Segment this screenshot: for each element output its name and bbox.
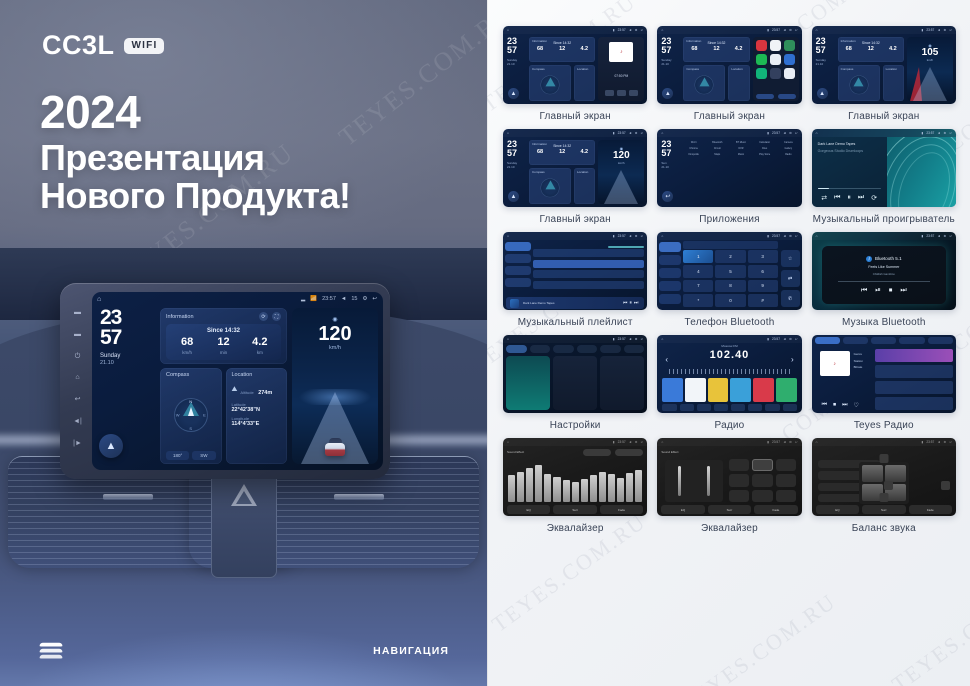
favorite-icon: ☆ [781, 250, 800, 267]
clock-hours: 23 [100, 308, 155, 328]
album-art: ♪ [609, 42, 633, 62]
gallery-item[interactable]: ⌂▮23:57◄⚙↩ Sound Effect EQSurrFade [503, 438, 647, 535]
mini-status-bar: ⌂▮23:57◄⚙↩ [503, 335, 647, 343]
mini-clock-hours: 23 [507, 140, 517, 148]
gallery-item[interactable]: ⌂▮23:57◄⚙↩ 23 57 Sunday21.10 ▲ Informati… [503, 26, 647, 123]
volume-icon: ◄ [629, 131, 632, 135]
speed-value: 105 [922, 48, 939, 58]
gallery-item[interactable]: ⌂▮23:57◄⚙↩ Настройки [503, 335, 647, 432]
back-icon: ↩ [795, 234, 798, 238]
back-icon[interactable]: ↩ [71, 394, 85, 406]
gallery-item[interactable]: ⌂▮23:57◄⚙↩ 23 57 Sunday21.10 ▲ Informati… [812, 26, 956, 123]
settings-tabs[interactable] [506, 345, 644, 353]
gear-icon: ⚙ [943, 28, 946, 32]
app-icon-youtube [756, 40, 767, 51]
play-pause-icon: ⏯ [875, 287, 881, 295]
app-item: Kinopoisk [683, 152, 704, 156]
screenshot-settings[interactable]: ⌂▮23:57◄⚙↩ [503, 335, 647, 413]
app-item: Bluetooth [707, 140, 728, 144]
playlist-tabs[interactable] [533, 241, 644, 248]
stat-value: 4.2 [242, 337, 278, 348]
tab-history [928, 337, 953, 344]
gallery-item[interactable]: ⌂▮23:57◄⚙↩ 23 57 Sunday21.10 ▲ Informati… [503, 129, 647, 226]
navigation-label: НАВИГАЦИЯ [373, 645, 449, 657]
fader-treble [707, 466, 710, 496]
volume-icon: ◄ [937, 234, 940, 238]
information-widget[interactable]: InformationSince 14:3268124.2 [529, 140, 595, 165]
tab-charts [871, 337, 896, 344]
app-icon-mail [784, 54, 795, 65]
wifi-icon: 📶 [310, 296, 317, 302]
track-artist: Childish Gambino [873, 272, 895, 276]
app-item: Gallery [778, 146, 799, 150]
app-item: Play Store [754, 152, 775, 156]
preset-label: Sound Effect [661, 450, 678, 454]
speed-widget[interactable]: ◉ 120 km/h [598, 140, 644, 204]
tab-network [600, 345, 621, 353]
app-shortcuts-widget[interactable] [753, 37, 799, 101]
wifi-icon: ▮ [922, 131, 924, 135]
volume-icon[interactable]: ◄ [341, 296, 346, 302]
location-widget[interactable]: Location [728, 65, 749, 101]
vent-slider-left [103, 494, 153, 500]
dial-pad[interactable]: 1 2 3 4 5 6 7 8 9 * 0 # [683, 250, 777, 307]
gear-icon: ⚙ [943, 131, 946, 135]
eq-band-14 [626, 473, 633, 502]
hazard-light-button[interactable] [231, 484, 257, 507]
tab-surround: Surr [553, 505, 596, 514]
preset-2 [685, 378, 706, 402]
screenshot-balance[interactable]: ⌂▮23:57◄⚙↩ EQSurrFade [812, 438, 956, 516]
gallery-item[interactable]: ♪ GenreStationBitrate ⏮⏹⏭♡ Teyes Радио [812, 335, 956, 432]
mini-clock-minutes: 57 [661, 149, 671, 157]
power-icon[interactable]: ⏻ [71, 350, 85, 362]
phone-sidebar[interactable] [659, 242, 681, 308]
playlist-items[interactable] [533, 249, 644, 296]
key-1: 1 [683, 250, 713, 263]
mini-status-bar: ⌂▮23:57◄⚙↩ [812, 438, 956, 446]
sidebar-item-search [659, 268, 681, 278]
preset-custom [776, 490, 796, 502]
mini-clock-hours: 23 [661, 140, 671, 148]
screenshot-equalizer-presets[interactable]: ⌂▮23:57◄⚙↩ Sound Effect EQSurrFade [657, 438, 801, 516]
mini-clock-text: 23:57 [618, 337, 626, 341]
panel-divider [487, 0, 488, 686]
gallery-item[interactable]: ⌂▮23:57◄⚙↩ ᛒ Bluetooth 5.1 Feels Like Su… [812, 232, 956, 329]
preset-dance [776, 474, 796, 486]
home-icon: ⌂ [661, 234, 663, 238]
location-widget[interactable]: Location [574, 65, 595, 101]
key-9: 9 [748, 280, 778, 293]
screenshot-teyes-radio[interactable]: ♪ GenreStationBitrate ⏮⏹⏭♡ [812, 335, 956, 413]
volume-down-icon[interactable]: ◄| [71, 415, 85, 427]
volume-icon: ◄ [783, 440, 786, 444]
screenshot-equalizer-bars[interactable]: ⌂▮23:57◄⚙↩ Sound Effect EQSurrFade [503, 438, 647, 516]
compass-title: Compass [166, 372, 189, 378]
home-icon: ⌂ [816, 131, 818, 135]
balance-up-button[interactable] [879, 454, 888, 463]
layers-icon [40, 642, 62, 660]
prev-icon: ⏮ [822, 402, 827, 409]
volume-icon: ◄ [783, 337, 786, 341]
caption: Эквалайзер [547, 523, 604, 535]
head-unit-screen: ⌂ ▂ 📶 23:57 ◄ 15 ⚙ ↩ 23 57 Sunday 21.10 … [92, 292, 383, 470]
equalizer-tabs[interactable]: EQSurrFade [661, 505, 797, 514]
screenshot-body: ♪ GenreStationBitrate ⏮⏹⏭♡ [812, 335, 956, 413]
gear-icon: ⚙ [789, 337, 792, 341]
key-0: 0 [715, 294, 745, 307]
balance-tabs[interactable]: EQSurrFade [816, 505, 952, 514]
mini-clock-text: 23:57 [618, 28, 626, 32]
home-icon: ⌂ [507, 234, 509, 238]
fader-group[interactable] [665, 460, 723, 502]
screenshot-music-player[interactable]: ⌂▮23:57◄⚙↩ Dark Lane Demo Tapes Gorgeous… [812, 129, 956, 207]
screenshot-bt-phone[interactable]: ⌂▮23:57◄⚙↩ 1 2 3 4 5 6 7 8 9 * [657, 232, 801, 310]
wifi-icon: ▮ [922, 28, 924, 32]
next-icon: ⏭ [858, 194, 864, 202]
title-line-1: Презентация [40, 139, 351, 177]
pause-icon: ⏸ [847, 194, 851, 202]
screenshot-body: ᛒ Bluetooth 5.1 Feels Like Summer Childi… [812, 240, 956, 310]
volume-icon: ◄ [937, 28, 940, 32]
location-title: Location [232, 372, 253, 378]
home-icon: ⌂ [661, 131, 663, 135]
trip-stats: 68 km/h 12 min 4.2 km [169, 337, 278, 355]
balance-right-button[interactable] [941, 481, 950, 490]
compass-widget[interactable]: Compass [529, 168, 571, 204]
number-display [683, 241, 777, 249]
tab-system [577, 345, 598, 353]
home-icon: ⌂ [507, 337, 509, 341]
settings-tiles[interactable] [506, 356, 644, 410]
tool-list [697, 404, 711, 411]
compass-widget[interactable]: Compass [838, 65, 880, 101]
progress-bar[interactable] [818, 188, 881, 190]
tab-about [624, 345, 645, 353]
station-presets[interactable] [662, 378, 796, 402]
title-line-2: Нового Продукта! [40, 177, 351, 215]
sidebar-item-history [659, 281, 681, 291]
home-icon[interactable]: ⌂ [97, 296, 101, 303]
location-header: Location [232, 372, 282, 378]
list-item [533, 249, 644, 257]
radio-toolbar[interactable] [662, 404, 796, 411]
gallery-item[interactable]: ⌂▮23:57◄⚙↩ 23 57 Sunday21.10 ▲ Informati… [657, 26, 801, 123]
mute-icon[interactable]: ▬ [71, 307, 85, 319]
screenshot-body: Dark Lane Demo Tapes ⏮⏸⏭ [503, 240, 647, 310]
expand-icon[interactable]: ⛶ [272, 312, 281, 321]
mini-clock-text: 23:57 [618, 440, 626, 444]
speed-widget[interactable]: ◉ 105 km/h [907, 37, 953, 101]
screenshot-playlist[interactable]: ⌂▮23:57◄⚙↩ Dark Lane Demo Tapes ⏮⏸⏭ [503, 232, 647, 310]
mini-clock-text: 23:57 [772, 337, 780, 341]
speed-value: 120 [613, 151, 630, 161]
volume-up-icon[interactable]: |► [71, 437, 85, 449]
hero-footer: НАВИГАЦИЯ [0, 642, 487, 660]
location-widget[interactable]: Location [574, 168, 595, 204]
information-body: Since 14:32 68 km/h 12 min [166, 324, 281, 360]
mini-date: Sunday21.10 [816, 58, 826, 66]
screenshot-body: 1 2 3 4 5 6 7 8 9 * 0 # ☆⇄✆ [657, 240, 801, 310]
teyes-radio-tabs[interactable] [815, 337, 953, 344]
stat-item: 4.2 km [242, 337, 278, 355]
now-playing-title: Dark Lane Demo Tapes [523, 301, 619, 305]
gear-icon: ⚙ [943, 440, 946, 444]
home-icon: ⌂ [507, 28, 509, 32]
key-8: 8 [715, 280, 745, 293]
key-hash: # [748, 294, 778, 307]
preset-grid[interactable] [729, 459, 795, 502]
mini-clock-minutes: 57 [816, 46, 826, 54]
screenshot-bt-music[interactable]: ⌂▮23:57◄⚙↩ ᛒ Bluetooth 5.1 Feels Like Su… [812, 232, 956, 310]
volume-icon: ◄ [783, 28, 786, 32]
list-item [875, 349, 953, 362]
tab-fade: Fade [754, 505, 797, 514]
equalizer-header[interactable]: Sound Effect [507, 448, 643, 456]
player-controls[interactable]: ⏮⏹⏭♡ [822, 402, 859, 409]
gallery-item[interactable]: ⌂▮23:57◄⚙↩ 23 57 Sun21.10 ↩ Wi-Fi Blueto… [657, 129, 801, 226]
altitude-row: ⛰ Altitude 274m [232, 381, 282, 399]
compass-widget[interactable]: Compass N E S W [160, 368, 222, 464]
eq-band-13 [617, 478, 624, 502]
information-widget[interactable]: Information ⟳ ⛶ Since 14:32 68 km/h [160, 308, 287, 364]
play-icon [617, 90, 626, 96]
app-drawer[interactable]: Wi-Fi Bluetooth BT Music Calculator Came… [683, 140, 798, 204]
caption: Главный экран [848, 111, 919, 123]
speed-unit: km/h [618, 161, 625, 165]
latitude-value: 22°42'38"N [232, 407, 282, 413]
caption: Приложения [699, 214, 760, 226]
tool-settings [765, 404, 779, 411]
stop-icon: ⏹ [833, 402, 836, 409]
now-playing-bar[interactable]: Dark Lane Demo Tapes ⏮⏸⏭ [506, 297, 644, 309]
equalizer-header: Sound Effect [661, 448, 797, 456]
app-icon-music [770, 54, 781, 65]
refresh-icon[interactable]: ⟳ [259, 312, 268, 321]
tab-sound [530, 345, 551, 353]
player-controls[interactable]: ⏮⏯⏹⏭ [861, 287, 907, 295]
gallery-item[interactable]: ⌂▮23:57◄⚙↩ Sound Effect EQSurrFade Эквал… [657, 438, 801, 535]
list-item [533, 260, 644, 268]
home-icon[interactable]: ⌂ [71, 372, 85, 384]
frequency-scale[interactable] [669, 369, 789, 374]
watermark: TEYES.COM.RU [677, 588, 841, 686]
eject-icon[interactable]: ▬ [71, 329, 85, 341]
gear-icon: ⚙ [635, 440, 638, 444]
wifi-icon: ▮ [613, 234, 615, 238]
caption: Баланс звука [852, 523, 916, 535]
tool-rds [731, 404, 745, 411]
home-screen: 23 57 Sunday 21.10 ▲ Information ⟳ ⛶ [92, 306, 383, 470]
bluetooth-header: ᛒ Bluetooth 5.1 [866, 256, 902, 262]
mini-clock-text: 23:57 [926, 28, 934, 32]
volume-icon: ◄ [629, 337, 632, 341]
stat-value: 68 [169, 337, 205, 348]
mini-clock-text: 23:57 [772, 234, 780, 238]
location-widget[interactable]: Location ⛰ Altitude 274m Latitude [226, 368, 288, 464]
player-controls[interactable]: ⇄⏮⏸⏭⟳ [818, 194, 881, 202]
caption: Телефон Bluetooth [685, 317, 775, 329]
balance-left-button[interactable] [884, 481, 893, 490]
location-widget[interactable]: Location [883, 65, 904, 101]
list-item [875, 381, 953, 394]
screenshot-body: Moscow FM ‹ 102.40 › [657, 343, 801, 413]
key-2: 2 [715, 250, 745, 263]
app-item: Circuit [707, 146, 728, 150]
mini-clock-text: 23:57 [926, 234, 934, 238]
tab-eq: EQ [661, 505, 704, 514]
sidebar-item-dialpad [659, 242, 681, 252]
widgets-column: Information ⟳ ⛶ Since 14:32 68 km/h [160, 308, 287, 464]
screenshot-home-speed[interactable]: ⌂▮23:57◄⚙↩ 23 57 Sunday21.10 ▲ Informati… [503, 129, 647, 207]
mini-date: Sun21.10 [661, 161, 669, 169]
equalizer-sliders[interactable] [508, 459, 642, 502]
app-item: Maps [707, 152, 728, 156]
back-icon: ↩ [641, 440, 644, 444]
speed-value: 120 [318, 324, 351, 344]
eq-band-12 [608, 474, 615, 502]
gear-icon[interactable]: ⚙ [362, 296, 367, 302]
back-icon: ↩ [795, 131, 798, 135]
gallery-item[interactable]: ⌂▮23:57◄⚙↩ Dark Lane Demo Tapes Gorgeous… [812, 129, 956, 226]
screenshot-home-media[interactable]: ⌂▮23:57◄⚙↩ 23 57 Sunday21.10 ▲ Informati… [503, 26, 647, 104]
eq-band-3 [526, 468, 533, 502]
screenshot-body: Dark Lane Demo Tapes Gorgeous Studio Dru… [812, 137, 956, 207]
screenshot-body: EQSurrFade [812, 446, 956, 516]
tab-surround: Surr [862, 505, 905, 514]
information-widget[interactable]: InformationSince 14:3268124.2 [838, 37, 904, 62]
compass-w: W [176, 413, 180, 418]
screenshot-radio[interactable]: ⌂▮23:57◄⚙↩ Moscow FM ‹ 102.40 › [657, 335, 801, 413]
altitude-label: Altitude [240, 390, 253, 395]
wifi-icon: ▮ [767, 131, 769, 135]
eq-band-4 [535, 465, 542, 502]
prev-icon: ⏮ [834, 194, 840, 202]
media-widget[interactable]: ♪ 07:50 PM [598, 37, 644, 101]
progress-bar[interactable] [838, 281, 930, 282]
app-item: BT Music [731, 140, 752, 144]
screenshot-body: Sound Effect EQSurrFade [503, 446, 647, 516]
back-icon[interactable]: ↩ [662, 191, 673, 202]
longitude-value: 114°4'33"E [232, 421, 282, 427]
app-dock[interactable] [756, 94, 796, 99]
gear-icon: ⚙ [635, 28, 638, 32]
station-list[interactable] [875, 349, 953, 410]
key-6: 6 [748, 265, 778, 278]
back-icon: ↩ [641, 337, 644, 341]
volume-icon: ◄ [783, 131, 786, 135]
album-art [510, 299, 519, 308]
eq-band-10 [590, 475, 597, 502]
track-time: 07:50 PM [615, 74, 629, 78]
home-icon: ⌂ [816, 28, 818, 32]
favorite-icon: ♡ [853, 402, 858, 409]
wifi-icon: ▮ [767, 337, 769, 341]
product-logo: CC3L WIFI [42, 30, 164, 61]
clock-minutes: 57 [100, 328, 155, 348]
stat-unit: km [242, 350, 278, 355]
gallery-item[interactable]: ⌂▮23:57◄⚙↩ Moscow FM ‹ 102.40 › [657, 335, 801, 432]
gallery-item[interactable]: ⌂▮23:57◄⚙↩ Dark Lane Demo Tapes ⏮⏸⏭ Музы… [503, 232, 647, 329]
compass-direction: SW [192, 451, 215, 460]
compass-widget[interactable]: Compass [683, 65, 725, 101]
navigation-arrow-icon[interactable]: ▲ [508, 88, 519, 99]
navigation-arrow-icon[interactable]: ▲ [662, 88, 673, 99]
dash-glow [0, 586, 487, 686]
gallery-item[interactable]: ⌂▮23:57◄⚙↩ EQSurrFade Баланс звука [812, 438, 956, 535]
navigation-arrow-icon[interactable]: ▲ [817, 88, 828, 99]
tool-st [748, 404, 762, 411]
balance-down-button[interactable] [879, 493, 888, 502]
phone-actions[interactable]: ☆⇄✆ [781, 250, 800, 307]
tab-display [553, 345, 574, 353]
navigation-arrow-icon[interactable]: ▲ [99, 434, 123, 458]
gear-icon: ⚙ [789, 28, 792, 32]
compass-header: Compass [166, 372, 216, 378]
prev-icon [605, 90, 614, 96]
next-icon [629, 90, 638, 96]
gallery-item[interactable]: ⌂▮23:57◄⚙↩ 1 2 3 4 5 6 7 8 9 * [657, 232, 801, 329]
latitude-row: Latitude 22°42'38"N [232, 402, 282, 413]
next-station-icon[interactable]: › [791, 355, 794, 364]
tab-surround: Surr [708, 505, 751, 514]
head-unit-device: ▬ ▬ ⏻ ⌂ ↩ ◄| |► ⌂ ▂ 📶 23:57 ◄ 15 ⚙ ↩ 2 [60, 283, 390, 479]
list-item [533, 281, 644, 289]
bt-music-panel: ᛒ Bluetooth 5.1 Feels Like Summer Childi… [822, 246, 946, 304]
preset-flat [729, 490, 749, 502]
information-widget[interactable]: InformationSince 14:3268124.2 [683, 37, 749, 62]
track-title: Dark Lane Demo Tapes [818, 142, 881, 146]
fader-bass [678, 466, 681, 496]
preset-jazz [776, 459, 796, 471]
information-widget[interactable]: InformationSince 14:3268124.2 [529, 37, 595, 62]
prev-icon: ⏮ [861, 287, 867, 295]
gear-icon: ⚙ [943, 234, 946, 238]
compass-widget[interactable]: Compass [529, 65, 571, 101]
back-icon: ↩ [949, 28, 952, 32]
mini-clock-text: 23:57 [618, 131, 626, 135]
key-7: 7 [683, 280, 713, 293]
caption: Эквалайзер [701, 523, 758, 535]
eq-band-7 [563, 480, 570, 502]
transfer-icon: ⇄ [781, 270, 800, 287]
volume-icon: ◄ [629, 234, 632, 238]
caption: Настройки [550, 420, 601, 432]
speed-widget[interactable]: ◉ 120 km/h [292, 308, 378, 464]
eq-band-2 [517, 472, 524, 502]
tile-hotspot [553, 356, 597, 410]
back-icon: ↩ [949, 234, 952, 238]
screenshot-apps[interactable]: ⌂▮23:57◄⚙↩ 23 57 Sun21.10 ↩ Wi-Fi Blueto… [657, 129, 801, 207]
media-controls[interactable] [605, 90, 638, 96]
signal-icon: ▂ [301, 296, 305, 302]
back-icon: ↩ [641, 28, 644, 32]
home-icon: ⌂ [816, 440, 818, 444]
sidebar-item-tracks [505, 242, 531, 251]
wifi-icon: ▮ [767, 440, 769, 444]
sidebar-item-contacts [659, 255, 681, 265]
navigation-arrow-icon[interactable]: ▲ [508, 191, 519, 202]
mini-clock-hours: 23 [816, 37, 826, 45]
back-icon[interactable]: ↩ [372, 296, 377, 302]
screenshot-home-speed-red[interactable]: ⌂▮23:57◄⚙↩ 23 57 Sunday21.10 ▲ Informati… [812, 26, 956, 104]
screenshot-home-apps[interactable]: ⌂▮23:57◄⚙↩ 23 57 Sunday21.10 ▲ Informati… [657, 26, 801, 104]
volume-icon: ◄ [783, 234, 786, 238]
equalizer-tabs[interactable]: EQSurrFade [507, 505, 643, 514]
compass-dial-area: N E S W [166, 381, 216, 449]
wifi-icon: ▮ [613, 28, 615, 32]
app-item: Radio [778, 152, 799, 156]
